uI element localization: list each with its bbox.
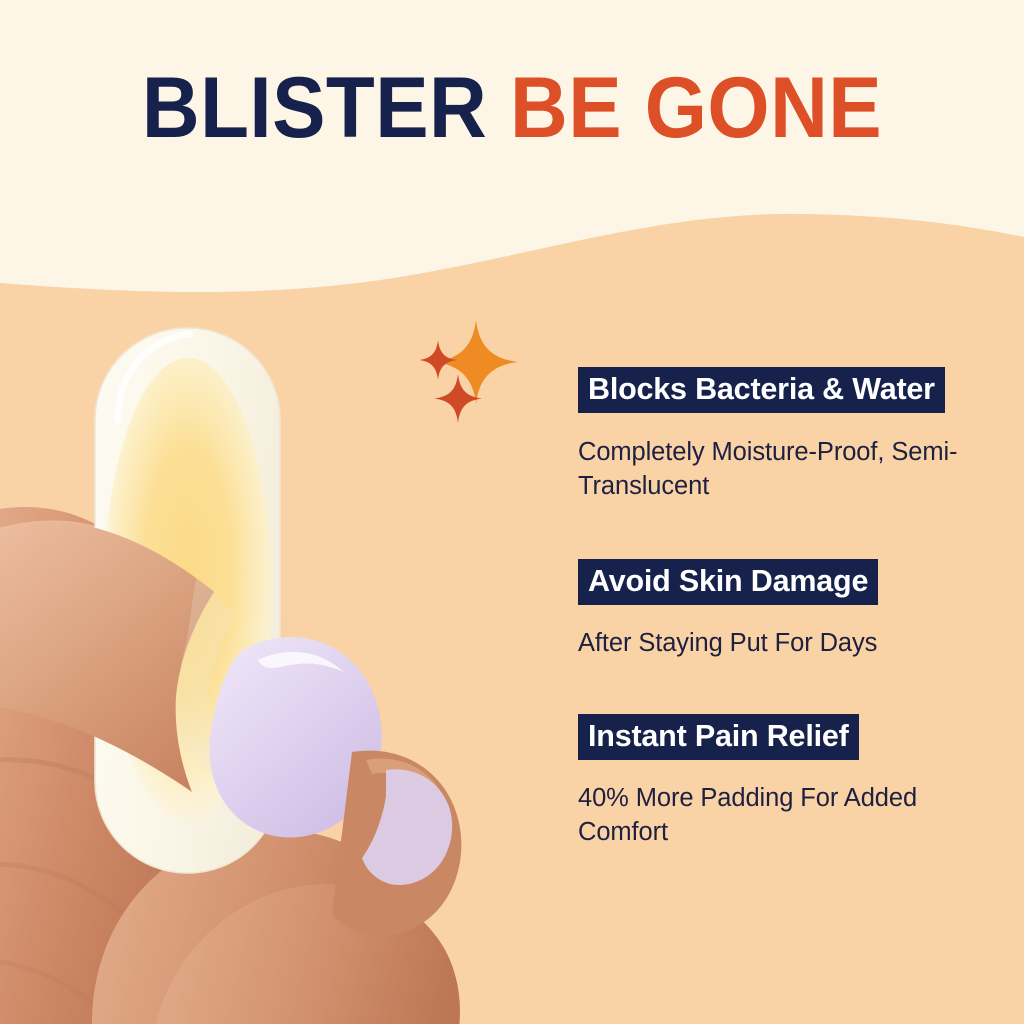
feature-title-text: Blocks Bacteria & Water — [578, 367, 945, 413]
title-part-two: BE GONE — [510, 60, 882, 156]
sparkle-group — [420, 318, 550, 438]
feature-item-instant-pain-relief: Instant Pain Relief 40% More Padding For… — [578, 713, 998, 849]
feature-item-avoid-skin-damage: Avoid Skin Damage After Staying Put For … — [578, 558, 998, 660]
feature-title: Instant Pain Relief — [578, 713, 998, 759]
title-part-one: BLISTER — [142, 60, 487, 156]
feature-body: Completely Moisture-Proof, Semi-Transluc… — [578, 435, 998, 503]
feature-title-text: Instant Pain Relief — [578, 714, 859, 760]
feature-title: Blocks Bacteria & Water — [578, 366, 998, 412]
page-title: BLISTER BE GONE — [36, 58, 988, 158]
feature-body: After Staying Put For Days — [578, 626, 998, 660]
feature-item-blocks-bacteria: Blocks Bacteria & Water Completely Moist… — [578, 366, 998, 503]
sparkle-small-top-icon — [420, 340, 457, 380]
feature-title: Avoid Skin Damage — [578, 558, 998, 604]
feature-body: 40% More Padding For Added Comfort — [578, 781, 998, 849]
infographic-canvas: BLISTER BE GONE — [0, 0, 1024, 1024]
feature-title-text: Avoid Skin Damage — [578, 559, 878, 605]
feature-list: Blocks Bacteria & Water Completely Moist… — [578, 366, 998, 849]
